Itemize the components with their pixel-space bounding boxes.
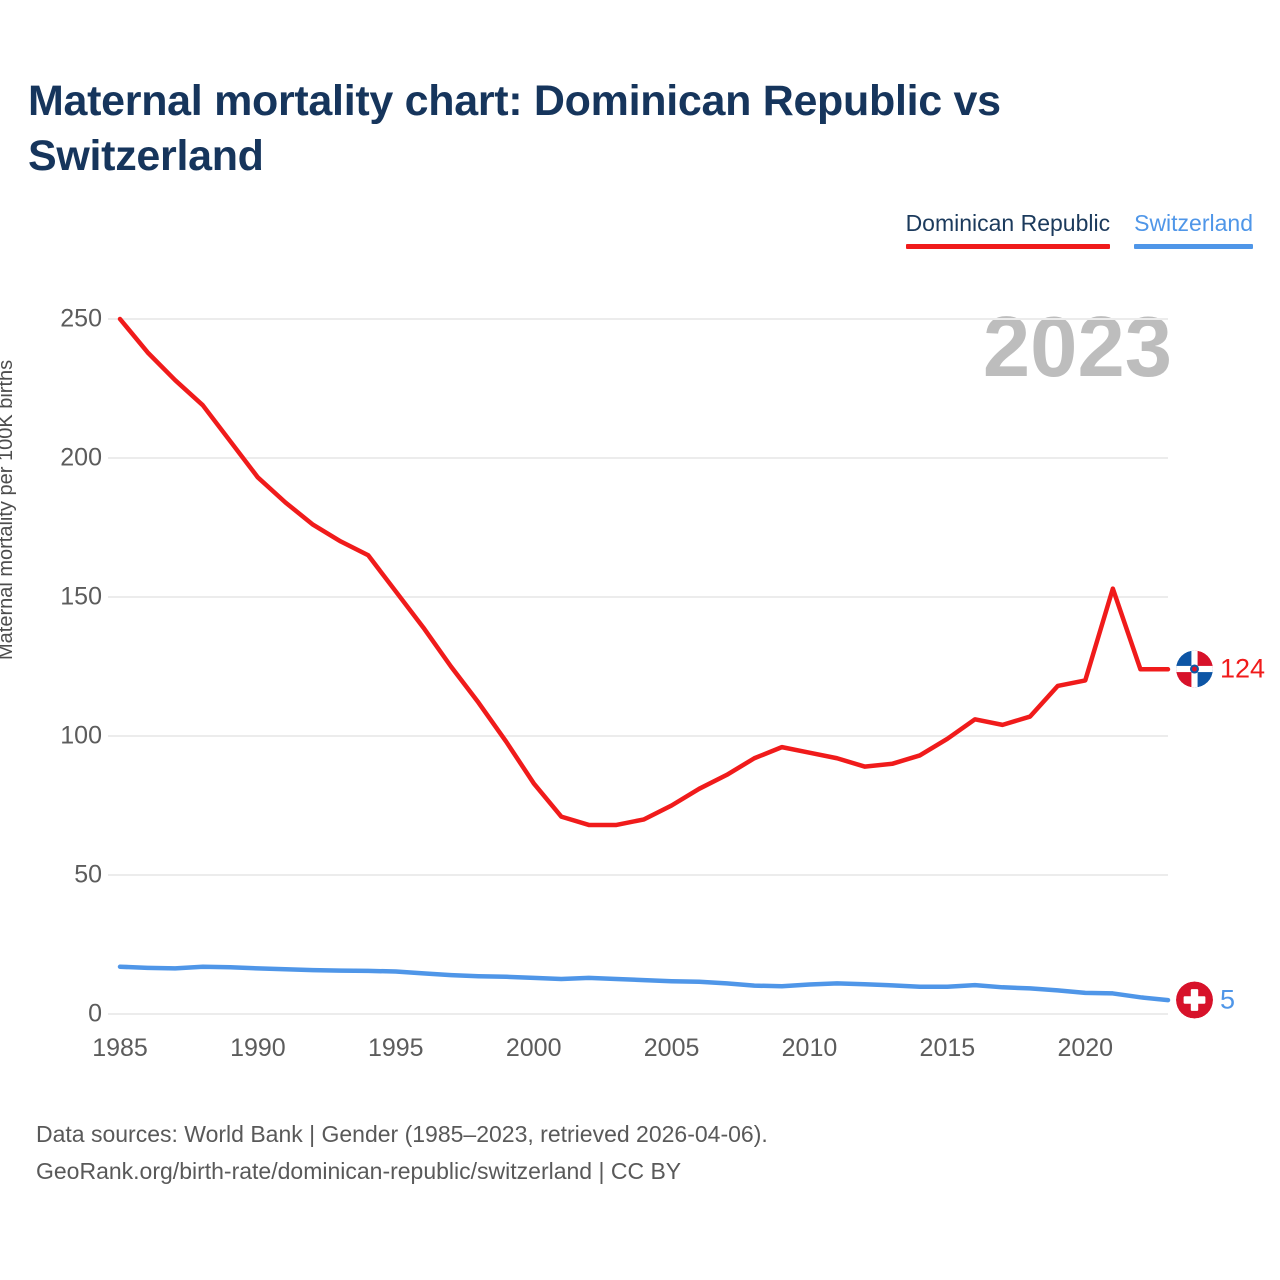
x-axis-tick-label: 2020 [1057, 1034, 1113, 1063]
endpoint-marker-switzerland: 5 [1176, 982, 1235, 1019]
endpoint-value-switzerland: 5 [1220, 987, 1235, 1014]
chart-svg [0, 0, 1280, 1280]
y-axis-tick-label: 250 [0, 305, 102, 334]
dominican-republic-flag-icon [1176, 651, 1213, 688]
x-axis-tick-label: 2010 [782, 1034, 838, 1063]
series-line-switzerland [120, 967, 1168, 1000]
switzerland-flag-icon [1176, 982, 1213, 1019]
x-axis-tick-label: 1990 [230, 1034, 286, 1063]
footer-attribution: Data sources: World Bank | Gender (1985–… [36, 1116, 768, 1191]
plot-area: Maternal mortality per 100K births 05010… [0, 0, 1280, 1280]
endpoint-value-dominican-republic: 124 [1220, 656, 1265, 683]
maternal-mortality-chart-page: Maternal mortality chart: Dominican Repu… [0, 0, 1280, 1280]
y-axis-tick-label: 50 [0, 861, 102, 890]
x-axis-tick-label: 2015 [920, 1034, 976, 1063]
endpoint-marker-dominican-republic: 124 [1176, 651, 1265, 688]
series-line-dominican-republic [120, 319, 1168, 825]
y-axis-tick-label: 0 [0, 1000, 102, 1029]
y-axis-tick-label: 150 [0, 583, 102, 612]
y-axis-tick-label: 100 [0, 722, 102, 751]
footer-data-sources: Data sources: World Bank | Gender (1985–… [36, 1116, 768, 1153]
x-axis-tick-label: 2000 [506, 1034, 562, 1063]
x-axis-tick-label: 2005 [644, 1034, 700, 1063]
x-axis-tick-label: 1985 [92, 1034, 148, 1063]
y-axis-title: Maternal mortality per 100K births [0, 360, 18, 660]
footer-source-url: GeoRank.org/birth-rate/dominican-republi… [36, 1153, 768, 1190]
y-axis-tick-label: 200 [0, 444, 102, 473]
x-axis-tick-label: 1995 [368, 1034, 424, 1063]
